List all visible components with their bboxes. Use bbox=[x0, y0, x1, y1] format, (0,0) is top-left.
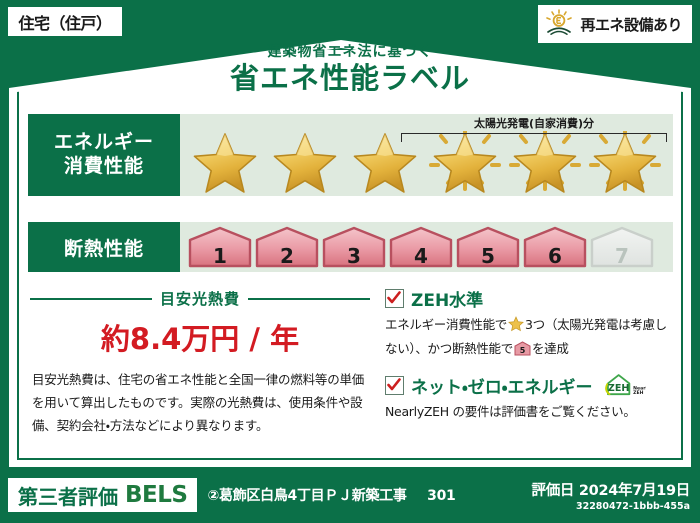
label-sheet bbox=[9, 40, 691, 516]
zeh-body-part1: エネルギー消費性能で bbox=[385, 317, 507, 332]
unit-number: 301 bbox=[427, 488, 455, 504]
rule-right bbox=[248, 298, 370, 300]
label-footer: 第三者評価 BELS ②葛飾区白鳥4丁目ＰＪ新築工事 301 評価日 2024年… bbox=[0, 467, 700, 523]
svg-text:ZEH: ZEH bbox=[633, 390, 643, 396]
zeh-item-standard: ZEH水準 エネルギー消費性能で3つ（太陽光発電は考慮しない）、かつ断熱性能で5… bbox=[385, 286, 671, 362]
insulation-grade-number: 5 bbox=[456, 246, 520, 266]
utility-cost-heading: 目安光熱費 bbox=[30, 288, 370, 309]
zeh-net-zero-body: NearlyZEH の要件は評価書をご覧ください。 bbox=[385, 402, 671, 423]
star-3 bbox=[346, 123, 424, 193]
building-name: ②葛飾区白鳥4丁目ＰＪ新築工事 bbox=[207, 488, 406, 504]
star-6 bbox=[586, 123, 664, 193]
insulation-grade-number: 3 bbox=[322, 246, 386, 266]
insulation-grade-number: 2 bbox=[255, 246, 319, 266]
star-5 bbox=[506, 123, 584, 193]
zeh-net-zero-checkbox[interactable] bbox=[385, 376, 404, 395]
insulation-grade-5: 5 bbox=[456, 226, 520, 268]
insulation-grade-1: 1 bbox=[188, 226, 252, 268]
zeh-standard-body: エネルギー消費性能で3つ（太陽光発電は考慮しない）、かつ断熱性能で5を達成 bbox=[385, 315, 671, 362]
zeh-net-zero-head: ネット・ゼロ・エネルギー ZEH Nearly ZEH bbox=[385, 372, 671, 398]
insulation-grade-6: 6 bbox=[523, 226, 587, 268]
utility-cost-block: 目安光熱費 約8.4万円 / 年 bbox=[30, 288, 370, 358]
utility-cost-value: 約8.4万円 / 年 bbox=[30, 316, 370, 358]
insulation-grade-number: 7 bbox=[590, 246, 654, 266]
star-4 bbox=[426, 123, 504, 193]
utility-cost-note: 目安光熱費は、住宅の省エネ性能と全国一律の燃料等の単価を用いて算出したものです。… bbox=[32, 368, 368, 437]
energy-performance-row: エネルギー 消費性能 bbox=[28, 114, 673, 196]
insulation-grade-4: 4 bbox=[389, 226, 453, 268]
bels-en-label: BELS bbox=[125, 482, 187, 508]
energy-key-line1: エネルギー bbox=[54, 131, 154, 155]
insulation-performance-key: 断熱性能 bbox=[28, 222, 180, 272]
insulation-grade-7: 7 bbox=[590, 226, 654, 268]
svg-text:ZEH: ZEH bbox=[607, 383, 628, 394]
insulation-grade-number: 6 bbox=[523, 246, 587, 266]
rule-left bbox=[30, 298, 152, 300]
energy-performance-value: 太陽光発電(自家消費)分 bbox=[180, 114, 673, 196]
solar-sun-icon bbox=[544, 9, 574, 39]
star-1 bbox=[186, 123, 264, 193]
renewable-energy-badge: 再エネ設備あり bbox=[538, 5, 692, 43]
insulation-grade-number: 4 bbox=[389, 246, 453, 266]
zeh-standard-checkbox[interactable] bbox=[385, 289, 404, 308]
star-2 bbox=[266, 123, 344, 193]
renewable-energy-label: 再エネ設備あり bbox=[580, 14, 682, 35]
evaluation-date: 評価日 2024年7月19日 bbox=[532, 479, 690, 500]
star-rating bbox=[180, 123, 664, 193]
zeh-column: ZEH水準 エネルギー消費性能で3つ（太陽光発電は考慮しない）、かつ断熱性能で5… bbox=[385, 286, 671, 433]
inline-grade-house-icon: 5 bbox=[514, 344, 531, 359]
bels-jp-label: 第三者評価 bbox=[18, 481, 118, 510]
zeh-standard-head: ZEH水準 bbox=[385, 286, 671, 311]
utility-cost-heading-text: 目安光熱費 bbox=[160, 288, 240, 309]
evaluation-id: 32280472-1bbb-455a bbox=[532, 501, 690, 512]
energy-performance-key: エネルギー 消費性能 bbox=[28, 114, 180, 196]
building-type-tag: 住宅（住戸） bbox=[6, 5, 124, 38]
evaluation-info: 評価日 2024年7月19日 32280472-1bbb-455a bbox=[532, 479, 690, 512]
insulation-grade-number: 1 bbox=[188, 246, 252, 266]
zeh-item-net-zero: ネット・ゼロ・エネルギー ZEH Nearly ZEH NearlyZEH の要… bbox=[385, 372, 671, 423]
insulation-grade-scale: 1 2 3 bbox=[180, 226, 654, 268]
zeh-body-part2: を達成 bbox=[532, 341, 569, 356]
bels-certification-badge: 第三者評価 BELS bbox=[8, 478, 197, 512]
insulation-performance-value: 1 2 3 bbox=[180, 222, 673, 272]
label-title-sub: 建築物省エネ法に基づく bbox=[0, 44, 700, 61]
energy-key-line2: 消費性能 bbox=[64, 155, 144, 179]
energy-performance-label: 住宅（住戸） 再エネ設備あり 建築物省エネ法に基づく 省エネ性能ラベル bbox=[0, 0, 700, 523]
insulation-performance-row: 断熱性能 1 2 bbox=[28, 222, 673, 272]
insulation-grade-3: 3 bbox=[322, 226, 386, 268]
zeh-standard-title: ZEH水準 bbox=[411, 286, 483, 311]
label-title-block: 建築物省エネ法に基づく 省エネ性能ラベル bbox=[0, 44, 700, 95]
zeh-net-zero-title: ネット・ゼロ・エネルギー bbox=[411, 373, 593, 398]
label-title-main: 省エネ性能ラベル bbox=[0, 62, 700, 95]
insulation-grade-2: 2 bbox=[255, 226, 319, 268]
building-info: ②葛飾区白鳥4丁目ＰＪ新築工事 301 bbox=[207, 485, 455, 505]
zeh-logo-icon: ZEH Nearly ZEH bbox=[602, 372, 646, 398]
inline-star-icon bbox=[508, 320, 524, 335]
svg-text:5: 5 bbox=[520, 346, 526, 355]
